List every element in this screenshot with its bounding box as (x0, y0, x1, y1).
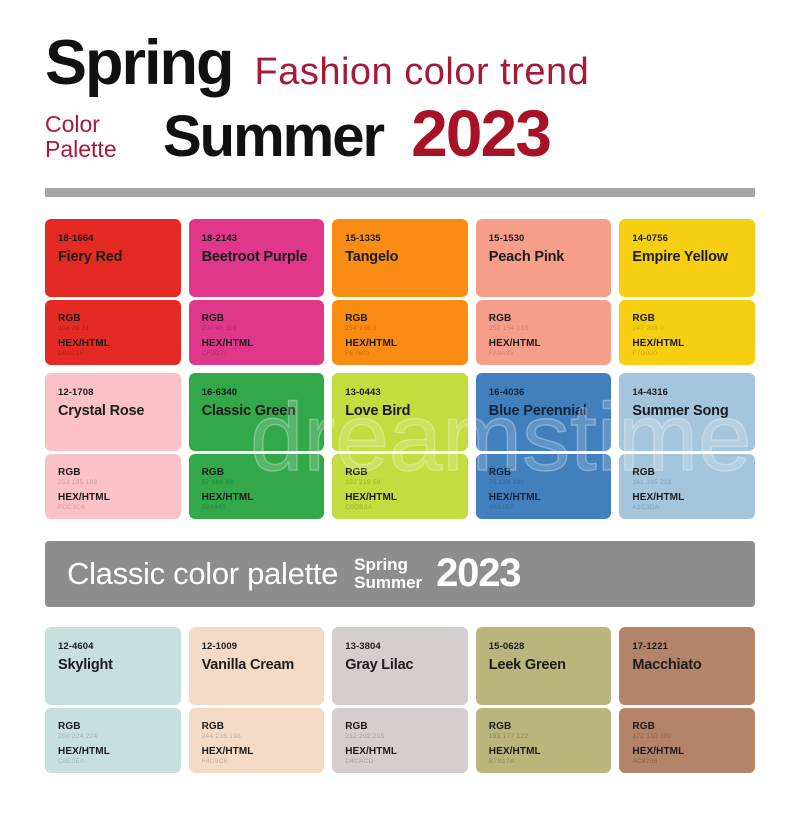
color-name: Crystal Rose (58, 403, 168, 419)
swatch-values-block: RGB161 195 218HEX/HTMLA1C3DA (619, 454, 755, 519)
rgb-label: RGB (632, 721, 742, 732)
color-name: Skylight (58, 657, 168, 673)
rgb-label: RGB (632, 313, 742, 324)
swatch-name-block: 13-0443Love Bird (332, 373, 468, 451)
color-swatch-card[interactable]: 13-3804Gray LilacRGB212 202 205HEX/HTMLD… (332, 627, 468, 773)
pantone-code: 15-1530 (489, 233, 599, 244)
color-name: Vanilla Cream (202, 657, 312, 673)
swatch-values-block: RGB192 219 58HEX/HTMLC0DB3A (332, 454, 468, 519)
color-swatch-card[interactable]: 15-1530Peach PinkRGB250 154 133HEX/HTMLF… (476, 219, 612, 365)
rgb-value: 254 136 3 (345, 325, 455, 332)
color-swatch-card[interactable]: 12-1708Crystal RoseRGB253 195 198HEX/HTM… (45, 373, 181, 519)
swatch-values-block: RGB200 224 224HEX/HTMLC8E0E0 (45, 708, 181, 773)
color-name: Beetroot Purple (202, 249, 312, 265)
label-palette: Palette (45, 137, 163, 162)
hex-label: HEX/HTML (202, 746, 312, 757)
swatch-values-block: RGB208 28 31HEX/HTMLD01C1F (45, 300, 181, 365)
pantone-code: 18-1664 (58, 233, 168, 244)
rgb-value: 75 129 190 (489, 479, 599, 486)
banner-season-summer: Summer (354, 574, 422, 592)
color-swatch-card[interactable]: 16-4036Blue PerennialRGB75 129 190HEX/HT… (476, 373, 612, 519)
hex-label: HEX/HTML (489, 746, 599, 757)
swatch-name-block: 15-0628Leek Green (476, 627, 612, 705)
swatch-values-block: RGB172 130 102HEX/HTMLAC8266 (619, 708, 755, 773)
color-name: Leek Green (489, 657, 599, 673)
hex-value: FA9A85 (489, 350, 599, 357)
header-line-1: Spring Fashion color trend (45, 34, 755, 94)
pantone-code: 18-2143 (202, 233, 312, 244)
rgb-value: 208 28 31 (58, 325, 168, 332)
hex-value: C0DB3A (345, 504, 455, 511)
swatch-name-block: 17-1221Macchiato (619, 627, 755, 705)
rgb-label: RGB (58, 721, 168, 732)
swatch-values-block: RGB250 154 133HEX/HTMLFA9A85 (476, 300, 612, 365)
rgb-value: 57 168 69 (202, 479, 312, 486)
color-swatch-card[interactable]: 15-1335TangeloRGB254 136 3HEX/HTMLFE7603 (332, 219, 468, 365)
swatch-name-block: 18-1664Fiery Red (45, 219, 181, 297)
pantone-code: 16-6340 (202, 387, 312, 398)
hex-label: HEX/HTML (202, 338, 312, 349)
hex-label: HEX/HTML (58, 746, 168, 757)
swatch-values-block: RGB244 216 198HEX/HTMLF4D8C6 (189, 708, 325, 773)
swatch-name-block: 15-1530Peach Pink (476, 219, 612, 297)
swatch-name-block: 16-4036Blue Perennial (476, 373, 612, 451)
hex-label: HEX/HTML (632, 338, 742, 349)
swatch-name-block: 14-0756Empire Yellow (619, 219, 755, 297)
color-swatch-card[interactable]: 13-0443Love BirdRGB192 219 58HEX/HTMLC0D… (332, 373, 468, 519)
hex-value: B7B17A (489, 758, 599, 765)
rgb-label: RGB (58, 313, 168, 324)
banner-year: 2023 (436, 551, 520, 596)
rgb-label: RGB (489, 467, 599, 478)
swatch-values-block: RGB57 168 69HEX/HTML39A845 (189, 454, 325, 519)
hex-value: FE7603 (345, 350, 455, 357)
pantone-code: 13-0443 (345, 387, 455, 398)
color-swatch-card[interactable]: 12-1009Vanilla CreamRGB244 216 198HEX/HT… (189, 627, 325, 773)
rgb-value: 247 208 0 (632, 325, 742, 332)
swatch-values-block: RGB212 202 205HEX/HTMLD4CACD (332, 708, 468, 773)
color-palette-infographic: Spring Fashion color trend Color Palette… (0, 0, 800, 836)
hex-value: F7D000 (632, 350, 742, 357)
hex-label: HEX/HTML (489, 492, 599, 503)
color-swatch-card[interactable]: 18-2143Beetroot PurpleRGB207 45 119HEX/H… (189, 219, 325, 365)
hex-label: HEX/HTML (345, 492, 455, 503)
hex-value: D01C1F (58, 350, 168, 357)
hex-label: HEX/HTML (345, 746, 455, 757)
swatch-name-block: 12-1009Vanilla Cream (189, 627, 325, 705)
rgb-value: 172 130 102 (632, 733, 742, 740)
swatch-name-block: 15-1335Tangelo (332, 219, 468, 297)
swatch-values-block: RGB183 177 122HEX/HTMLB7B17A (476, 708, 612, 773)
hex-label: HEX/HTML (202, 492, 312, 503)
rgb-label: RGB (202, 721, 312, 732)
pantone-code: 14-4316 (632, 387, 742, 398)
rgb-value: 250 154 133 (489, 325, 599, 332)
color-name: Peach Pink (489, 249, 599, 265)
classic-palette-banner: Classic color palette Spring Summer 2023 (45, 541, 755, 607)
label-color-palette: Color Palette (45, 112, 163, 166)
rgb-label: RGB (489, 721, 599, 732)
hex-value: FDC3C6 (58, 504, 168, 511)
swatch-name-block: 12-4604Skylight (45, 627, 181, 705)
pantone-code: 12-1009 (202, 641, 312, 652)
swatch-values-block: RGB254 136 3HEX/HTMLFE7603 (332, 300, 468, 365)
color-name: Empire Yellow (632, 249, 742, 265)
pantone-code: 16-4036 (489, 387, 599, 398)
swatch-values-block: RGB75 129 190HEX/HTML4B81BE (476, 454, 612, 519)
color-swatch-card[interactable]: 14-4316Summer SongRGB161 195 218HEX/HTML… (619, 373, 755, 519)
rgb-value: 207 45 119 (202, 325, 312, 332)
hex-value: D4CACD (345, 758, 455, 765)
rgb-value: 212 202 205 (345, 733, 455, 740)
rgb-label: RGB (632, 467, 742, 478)
rgb-value: 161 195 218 (632, 479, 742, 486)
color-name: Classic Green (202, 403, 312, 419)
swatch-values-block: RGB207 45 119HEX/HTMLCF2D77 (189, 300, 325, 365)
color-swatch-card[interactable]: 16-6340Classic GreenRGB57 168 69HEX/HTML… (189, 373, 325, 519)
hex-value: F4D8C6 (202, 758, 312, 765)
color-name: Summer Song (632, 403, 742, 419)
pantone-code: 12-1708 (58, 387, 168, 398)
color-name: Fiery Red (58, 249, 168, 265)
swatch-name-block: 12-1708Crystal Rose (45, 373, 181, 451)
color-swatch-card[interactable]: 18-1664Fiery RedRGB208 28 31HEX/HTMLD01C… (45, 219, 181, 365)
trend-palette-row-1: 18-1664Fiery RedRGB208 28 31HEX/HTMLD01C… (45, 219, 755, 365)
color-swatch-card[interactable]: 17-1221MacchiatoRGB172 130 102HEX/HTMLAC… (619, 627, 755, 773)
color-swatch-card[interactable]: 12-4604SkylightRGB200 224 224HEX/HTMLC8E… (45, 627, 181, 773)
classic-palette-row: 12-4604SkylightRGB200 224 224HEX/HTMLC8E… (45, 627, 755, 773)
header-divider (45, 188, 755, 197)
hex-value: A1C3DA (632, 504, 742, 511)
color-swatch-card[interactable]: 14-0756Empire YellowRGB247 208 0HEX/HTML… (619, 219, 755, 365)
banner-season: Spring Summer (354, 556, 422, 592)
pantone-code: 13-3804 (345, 641, 455, 652)
hex-value: AC8266 (632, 758, 742, 765)
swatch-name-block: 16-6340Classic Green (189, 373, 325, 451)
title-spring: Spring (45, 34, 233, 94)
color-name: Tangelo (345, 249, 455, 265)
pantone-code: 17-1221 (632, 641, 742, 652)
pantone-code: 14-0756 (632, 233, 742, 244)
rgb-value: 192 219 58 (345, 479, 455, 486)
page-header: Spring Fashion color trend Color Palette… (45, 0, 755, 166)
hex-label: HEX/HTML (632, 492, 742, 503)
banner-season-spring: Spring (354, 556, 422, 574)
swatch-values-block: RGB247 208 0HEX/HTMLF7D000 (619, 300, 755, 365)
rgb-value: 253 195 198 (58, 479, 168, 486)
rgb-label: RGB (202, 313, 312, 324)
hex-label: HEX/HTML (58, 492, 168, 503)
rgb-label: RGB (58, 467, 168, 478)
header-line-2: Color Palette Summer 2023 (45, 100, 755, 166)
hex-value: C8E0E0 (58, 758, 168, 765)
swatch-values-block: RGB253 195 198HEX/HTMLFDC3C6 (45, 454, 181, 519)
rgb-value: 183 177 122 (489, 733, 599, 740)
hex-label: HEX/HTML (632, 746, 742, 757)
rgb-value: 244 216 198 (202, 733, 312, 740)
rgb-label: RGB (202, 467, 312, 478)
swatch-name-block: 13-3804Gray Lilac (332, 627, 468, 705)
rgb-value: 200 224 224 (58, 733, 168, 740)
rgb-label: RGB (345, 721, 455, 732)
rgb-label: RGB (489, 313, 599, 324)
label-color: Color (45, 112, 163, 137)
hex-value: 39A845 (202, 504, 312, 511)
hex-value: 4B81BE (489, 504, 599, 511)
pantone-code: 15-0628 (489, 641, 599, 652)
rgb-label: RGB (345, 467, 455, 478)
pantone-code: 15-1335 (345, 233, 455, 244)
color-name: Macchiato (632, 657, 742, 673)
rgb-label: RGB (345, 313, 455, 324)
hex-label: HEX/HTML (58, 338, 168, 349)
hex-label: HEX/HTML (345, 338, 455, 349)
pantone-code: 12-4604 (58, 641, 168, 652)
swatch-name-block: 14-4316Summer Song (619, 373, 755, 451)
banner-title: Classic color palette (67, 556, 338, 592)
color-name: Love Bird (345, 403, 455, 419)
color-swatch-card[interactable]: 15-0628Leek GreenRGB183 177 122HEX/HTMLB… (476, 627, 612, 773)
swatch-name-block: 18-2143Beetroot Purple (189, 219, 325, 297)
title-summer: Summer (163, 108, 383, 166)
title-year: 2023 (411, 100, 550, 166)
color-name: Blue Perennial (489, 403, 599, 419)
hex-label: HEX/HTML (489, 338, 599, 349)
hex-value: CF2D77 (202, 350, 312, 357)
color-name: Gray Lilac (345, 657, 455, 673)
subtitle-fashion-color-trend: Fashion color trend (255, 53, 590, 91)
trend-palette-row-2: 12-1708Crystal RoseRGB253 195 198HEX/HTM… (45, 373, 755, 519)
